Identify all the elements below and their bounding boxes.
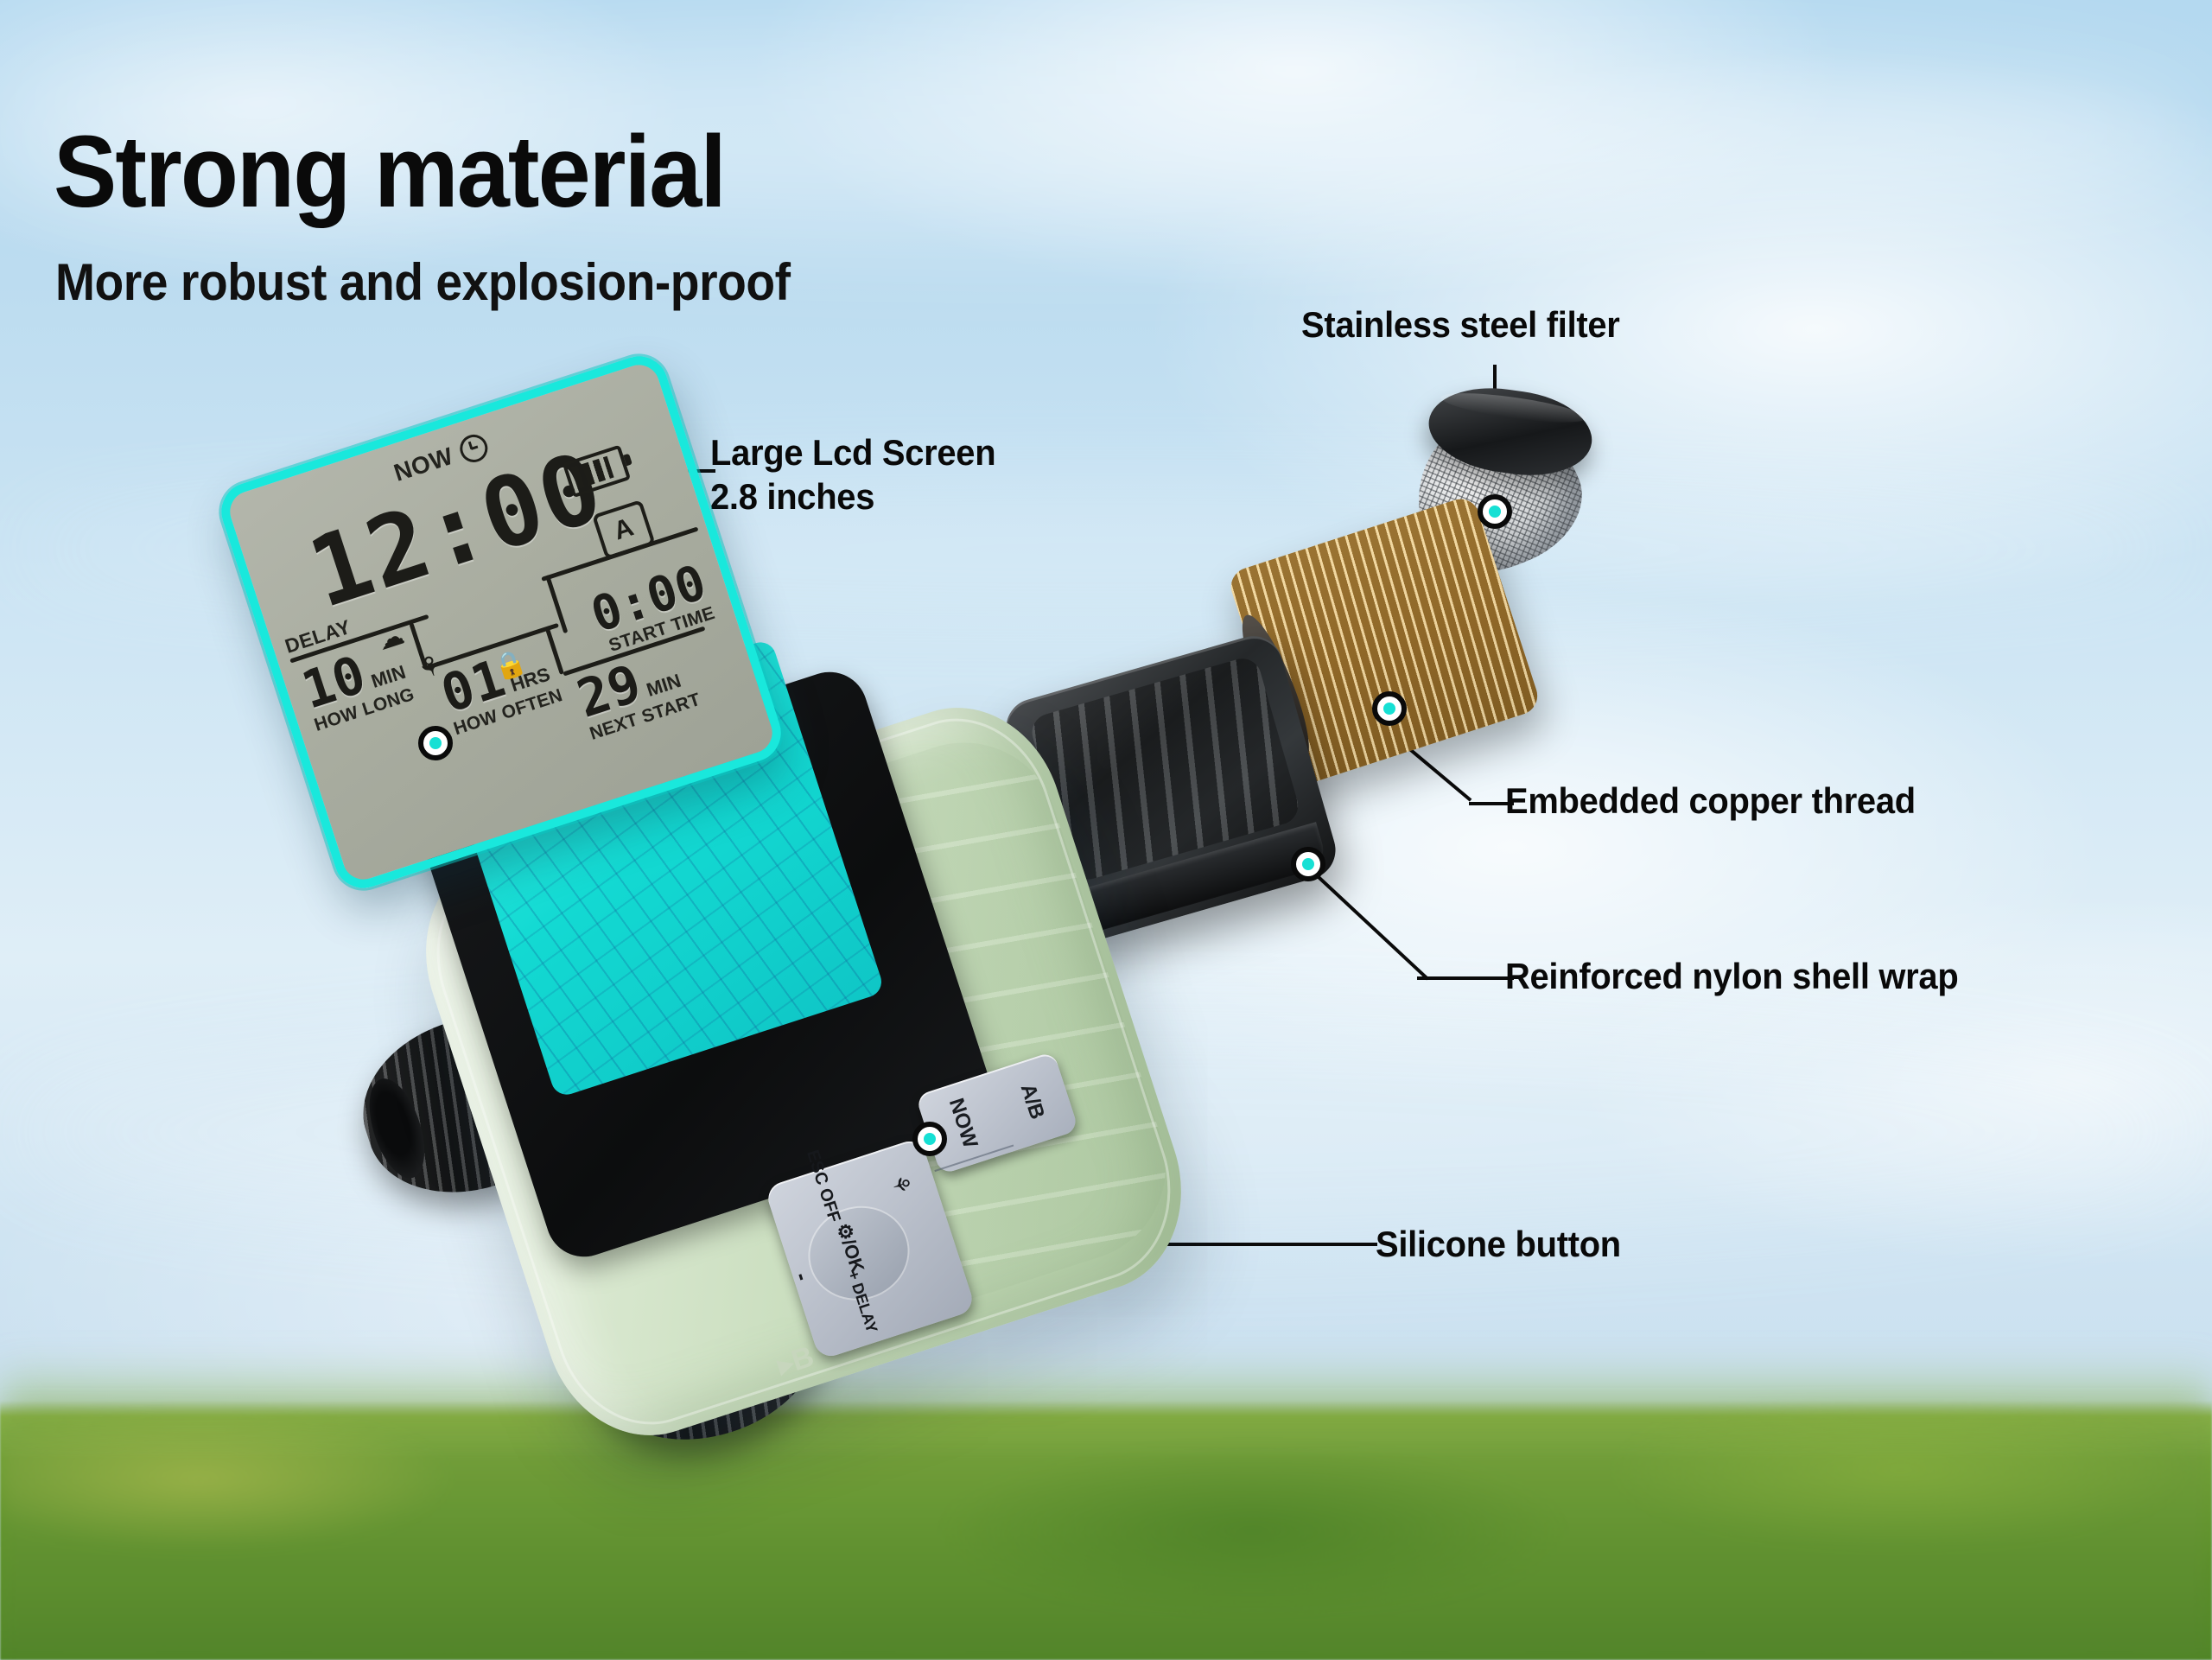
callout-label-silicone: Silicone button (1376, 1222, 1621, 1266)
callout-lcd-line2: 2.8 inches (710, 474, 995, 518)
callout-label-copper: Embedded copper thread (1505, 779, 1916, 823)
callout-dot-silicone[interactable] (912, 1122, 947, 1156)
lcd-how-often-cell: 01HRS HOW OFTEN (436, 639, 566, 741)
manual-watering-icon[interactable]: ⚘ (885, 1171, 917, 1199)
lcd-start-time-cell: 0:00 START TIME (586, 559, 717, 658)
callout-lcd-line1: Large Lcd Screen (710, 430, 995, 474)
minus-button[interactable]: - (788, 1269, 816, 1284)
water-timer-device: NOW 12:00 A DELAY ☁ ⚘ 🔒 10MIN (372, 553, 1322, 1607)
page-title: Strong material (54, 121, 725, 223)
lcd-next-start-cell: 29MIN NEXT START (572, 643, 703, 745)
callout-label-nylon: Reinforced nylon shell wrap (1505, 954, 1958, 998)
page-subtitle: More robust and explosion-proof (55, 252, 791, 312)
callout-label-lcd: Large Lcd Screen 2.8 inches (710, 430, 995, 518)
callout-dot-lcd[interactable] (418, 726, 453, 760)
leader-line-nylon-horizontal (1417, 976, 1514, 980)
callout-dot-nylon[interactable] (1291, 847, 1325, 881)
infographic-canvas: Strong material More robust and explosio… (0, 0, 2212, 1660)
callout-dot-copper[interactable] (1372, 691, 1407, 726)
callout-dot-filter[interactable] (1478, 494, 1512, 529)
callout-label-filter: Stainless steel filter (1301, 302, 1620, 347)
